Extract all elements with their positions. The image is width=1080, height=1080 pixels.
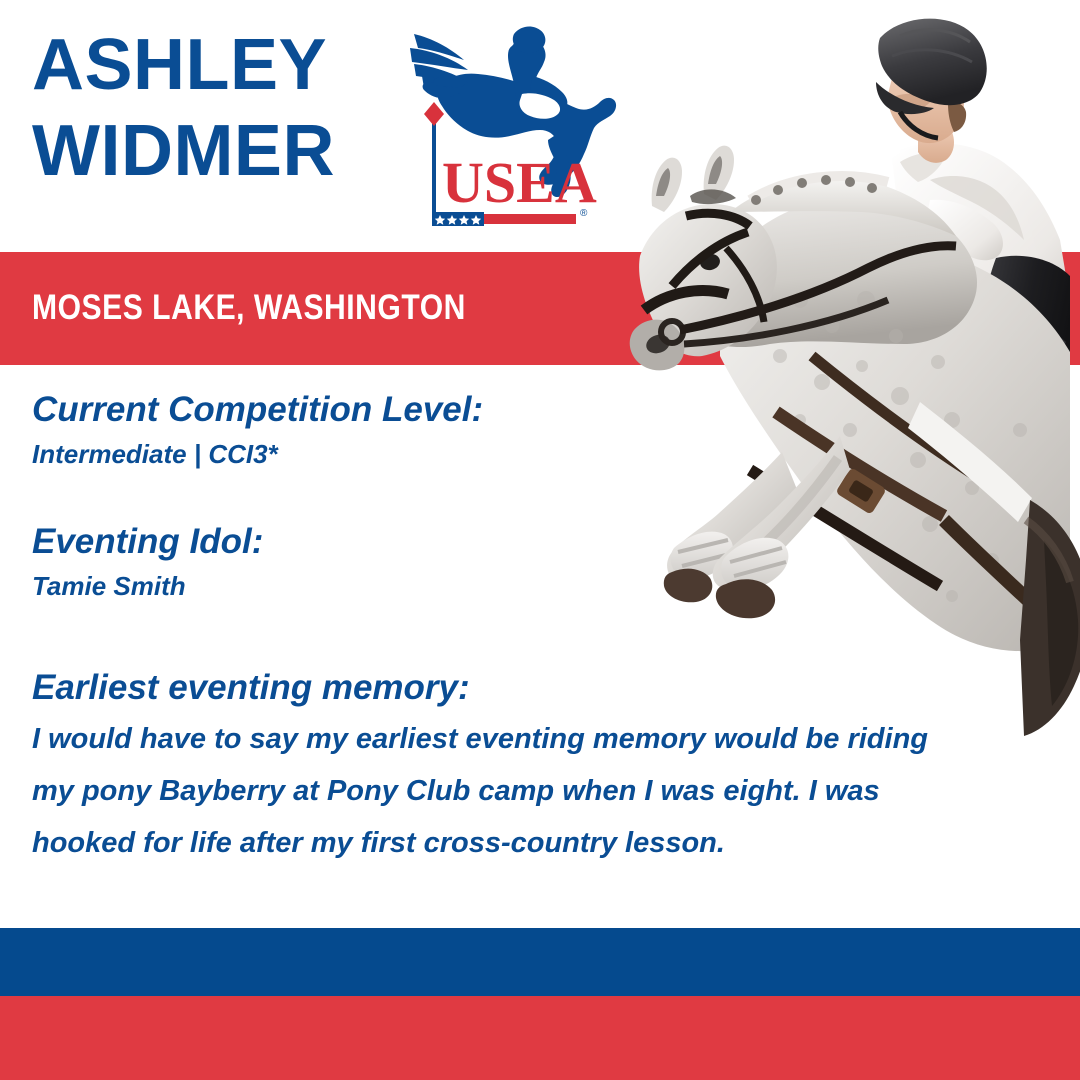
field-competition-level: Current Competition Level: Intermediate … bbox=[32, 388, 1042, 472]
footer-blue-band bbox=[0, 928, 1080, 996]
athlete-profile-card: ASHLEY WIDMER bbox=[0, 0, 1080, 1080]
usea-wordmark: USEA bbox=[442, 150, 597, 215]
jump-flag-icon bbox=[424, 102, 444, 226]
field-eventing-idol: Eventing Idol: Tamie Smith bbox=[32, 520, 1042, 604]
stars-banner-icon bbox=[432, 212, 576, 226]
athlete-last-name: WIDMER bbox=[32, 108, 432, 194]
field-heading: Current Competition Level: bbox=[32, 388, 1042, 432]
field-value: Tamie Smith bbox=[32, 568, 1042, 604]
field-heading: Earliest eventing memory: bbox=[32, 666, 1042, 710]
footer-red-band bbox=[0, 996, 1080, 1080]
field-earliest-memory: Earliest eventing memory: I would have t… bbox=[32, 666, 1042, 866]
athlete-first-name: ASHLEY bbox=[32, 22, 432, 108]
field-value: Intermediate | CCI3* bbox=[32, 436, 1042, 472]
field-heading: Eventing Idol: bbox=[32, 520, 1042, 564]
memory-line: my pony Bayberry at Pony Club camp when … bbox=[32, 768, 992, 814]
usea-logo: USEA ® bbox=[404, 16, 624, 232]
location-label: MOSES LAKE, WASHINGTON bbox=[32, 288, 466, 328]
profile-details: Current Competition Level: Intermediate … bbox=[32, 388, 1042, 866]
athlete-name: ASHLEY WIDMER bbox=[32, 22, 432, 194]
registered-mark: ® bbox=[580, 208, 588, 219]
memory-line: hooked for life after my first cross-cou… bbox=[32, 820, 992, 866]
memory-line: I would have to say my earliest eventing… bbox=[32, 716, 992, 762]
